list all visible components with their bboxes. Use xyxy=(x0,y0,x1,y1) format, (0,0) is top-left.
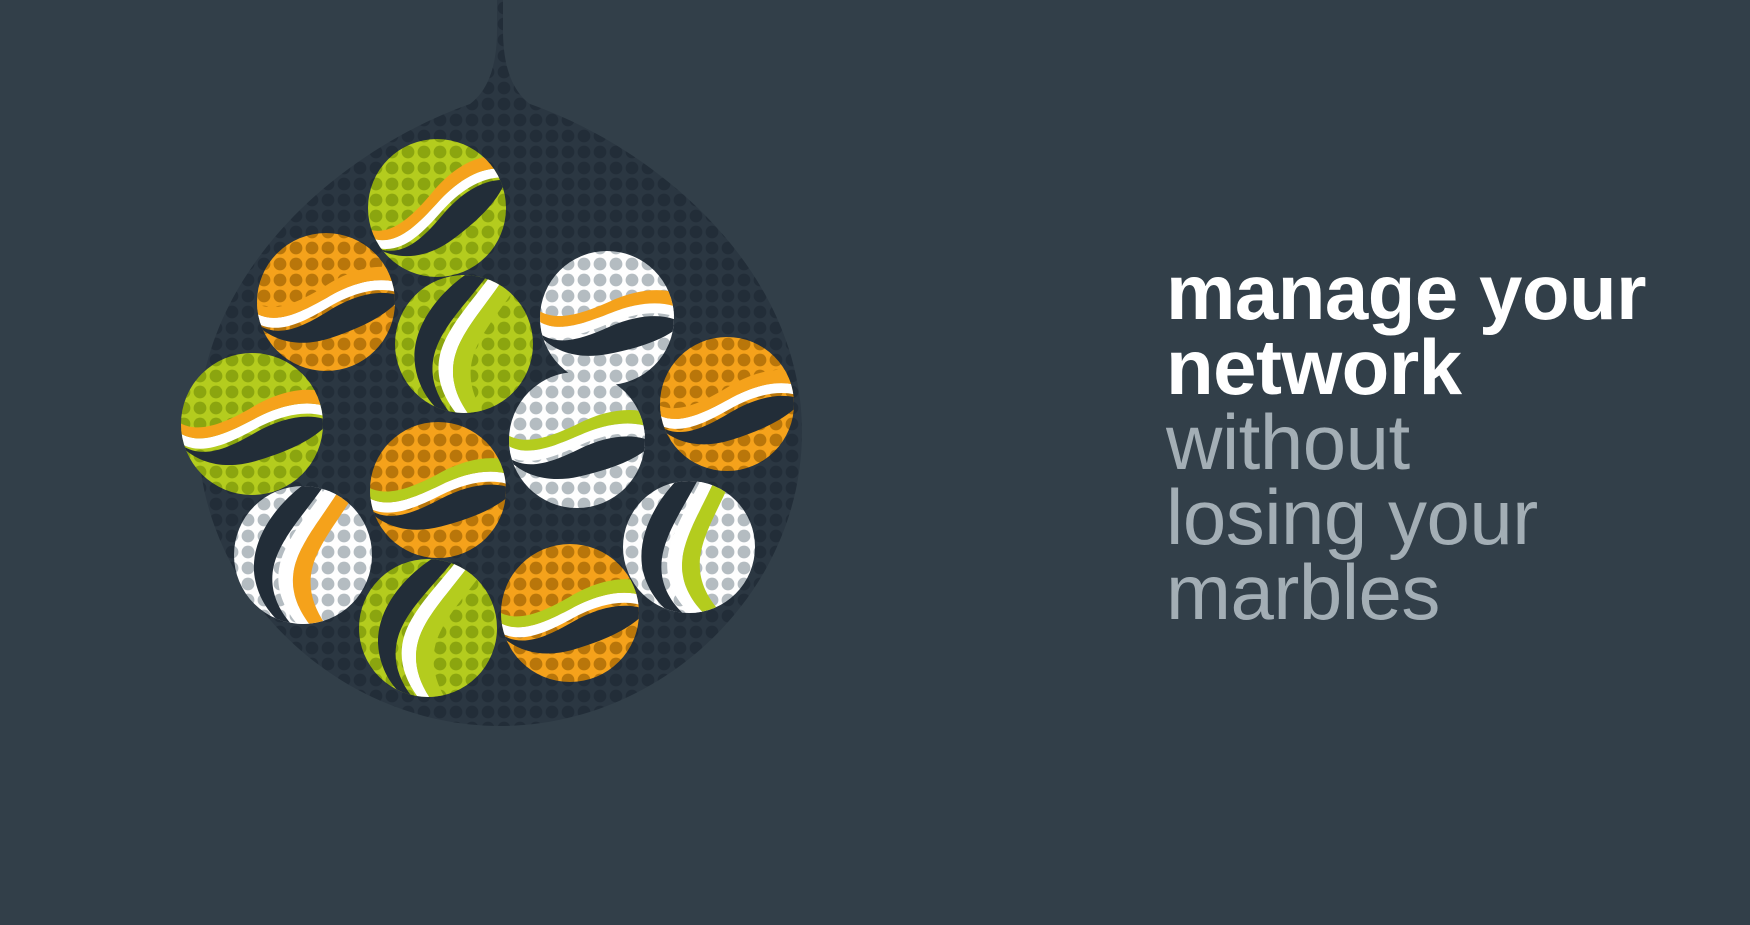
headline-line-4: losing your xyxy=(1166,480,1686,555)
marbles-ornament-artwork xyxy=(0,0,1000,920)
ornament-svg xyxy=(0,0,1000,920)
headline-line-5: marbles xyxy=(1166,555,1686,630)
headline-line-3: without xyxy=(1166,405,1686,480)
headline-block: manage your network without losing your … xyxy=(1166,255,1686,629)
headline-line-1: manage your xyxy=(1166,255,1686,330)
slide-canvas: manage your network without losing your … xyxy=(0,0,1750,920)
headline-line-2: network xyxy=(1166,330,1686,405)
